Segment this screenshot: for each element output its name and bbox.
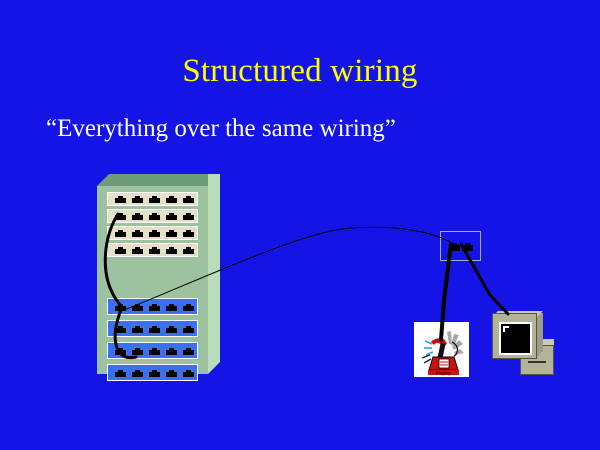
- svg-text:Ringing: Ringing: [436, 371, 451, 376]
- rj45-jack-icon: [132, 230, 143, 237]
- rj45-jack-icon: [166, 348, 177, 355]
- rj45-jack-icon: [166, 326, 177, 333]
- rj45-jack-icon: [149, 196, 160, 203]
- rj45-jack-icon: [115, 247, 126, 254]
- rj45-jack-icon: [115, 230, 126, 237]
- telephone-clipart: Ringing: [414, 322, 469, 377]
- screen-cursor-icon: [503, 326, 509, 332]
- rj45-jack-icon: [149, 326, 160, 333]
- rj45-jack-icon: [149, 230, 160, 237]
- rj45-jack-icon: [132, 370, 143, 377]
- rack-top-face: [97, 174, 220, 186]
- rj45-jack-icon: [149, 304, 160, 311]
- rj45-jack-icon: [183, 247, 194, 254]
- rj45-jack-icon: [183, 230, 194, 237]
- rj45-jack-icon: [183, 304, 194, 311]
- rack-switch-panel-2: [107, 320, 198, 337]
- rj45-jack-icon: [183, 196, 194, 203]
- rj45-jack-icon: [115, 326, 126, 333]
- telephone-icon: Ringing: [414, 322, 469, 377]
- rj45-jack-icon: [166, 230, 177, 237]
- rack-patch-panel-1: [107, 192, 198, 206]
- rj45-jack-icon: [166, 247, 177, 254]
- rack-patch-panel-3: [107, 226, 198, 240]
- rj45-jack-icon: [149, 348, 160, 355]
- computer-drive-slot-icon: [528, 361, 546, 363]
- slide-canvas: Structured wiring “Everything over the s…: [0, 0, 600, 450]
- rj45-jack-icon: [166, 213, 177, 220]
- rj45-jack-icon: [183, 213, 194, 220]
- rj45-jack-icon: [132, 213, 143, 220]
- rack-switch-panel-4: [107, 364, 198, 381]
- rj45-jack-icon: [183, 326, 194, 333]
- rj45-jack-icon: [149, 247, 160, 254]
- rj45-jack-icon: [132, 348, 143, 355]
- wall-outlet-jack-icon: [449, 243, 460, 251]
- rj45-jack-icon: [115, 348, 126, 355]
- rj45-jack-icon: [132, 326, 143, 333]
- rj45-jack-icon: [183, 370, 194, 377]
- rj45-jack-icon: [115, 196, 126, 203]
- rj45-jack-icon: [115, 304, 126, 311]
- wall-outlet-jack-icon: [462, 243, 473, 251]
- desktop-computer: [492, 311, 554, 377]
- rack-patch-panel-2: [107, 209, 198, 223]
- rack-switch-panel-3: [107, 342, 198, 359]
- rj45-jack-icon: [115, 213, 126, 220]
- rj45-jack-icon: [166, 196, 177, 203]
- wall-outlet: [440, 231, 481, 261]
- page-title: Structured wiring: [0, 52, 600, 90]
- rj45-jack-icon: [149, 213, 160, 220]
- rj45-jack-icon: [166, 304, 177, 311]
- wiring-closet-rack: [97, 174, 220, 374]
- rj45-jack-icon: [149, 370, 160, 377]
- rj45-jack-icon: [132, 247, 143, 254]
- rack-patch-panel-4: [107, 243, 198, 257]
- monitor-body: [492, 313, 537, 359]
- rj45-jack-icon: [166, 370, 177, 377]
- slide-subtitle: “Everything over the same wiring”: [46, 114, 396, 144]
- rj45-jack-icon: [115, 370, 126, 377]
- rack-switch-panel-1: [107, 298, 198, 315]
- rj45-jack-icon: [132, 196, 143, 203]
- rj45-jack-icon: [132, 304, 143, 311]
- rj45-jack-icon: [183, 348, 194, 355]
